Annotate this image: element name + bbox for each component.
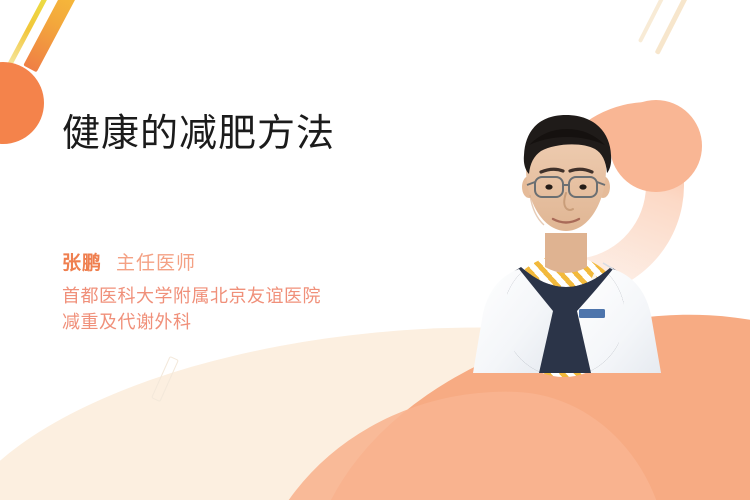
portrait: [445, 95, 705, 385]
stripe-top-right-a-icon: [638, 0, 674, 43]
slide-canvas: 健康的减肥方法 张鹏 主任医师 首都医科大学附属北京友谊医院 减重及代谢外科: [0, 0, 750, 500]
stripe-faint-outline-icon: [151, 356, 179, 402]
speaker-affiliation-line-2: 减重及代谢外科: [62, 310, 462, 336]
speaker-name: 张鹏: [62, 248, 102, 275]
speaker-title: 主任医师: [116, 248, 196, 275]
speaker-affiliation-line-1: 首都医科大学附属北京友谊医院: [62, 284, 462, 310]
circle-left-orange-icon: [0, 62, 44, 144]
portrait-illustration: [445, 95, 705, 385]
speaker-block: 张鹏 主任医师 首都医科大学附属北京友谊医院 减重及代谢外科: [62, 248, 462, 336]
stripe-top-right-b-icon: [655, 0, 695, 55]
title-block: 健康的减肥方法: [62, 112, 442, 156]
stripe-top-left-thick-icon: [23, 0, 86, 72]
stripe-top-left-thin-icon: [6, 0, 55, 69]
wave-peach-bottom-secondary-icon: [245, 383, 675, 500]
speaker-name-row: 张鹏 主任医师: [62, 248, 462, 275]
page-title: 健康的减肥方法: [62, 112, 442, 156]
